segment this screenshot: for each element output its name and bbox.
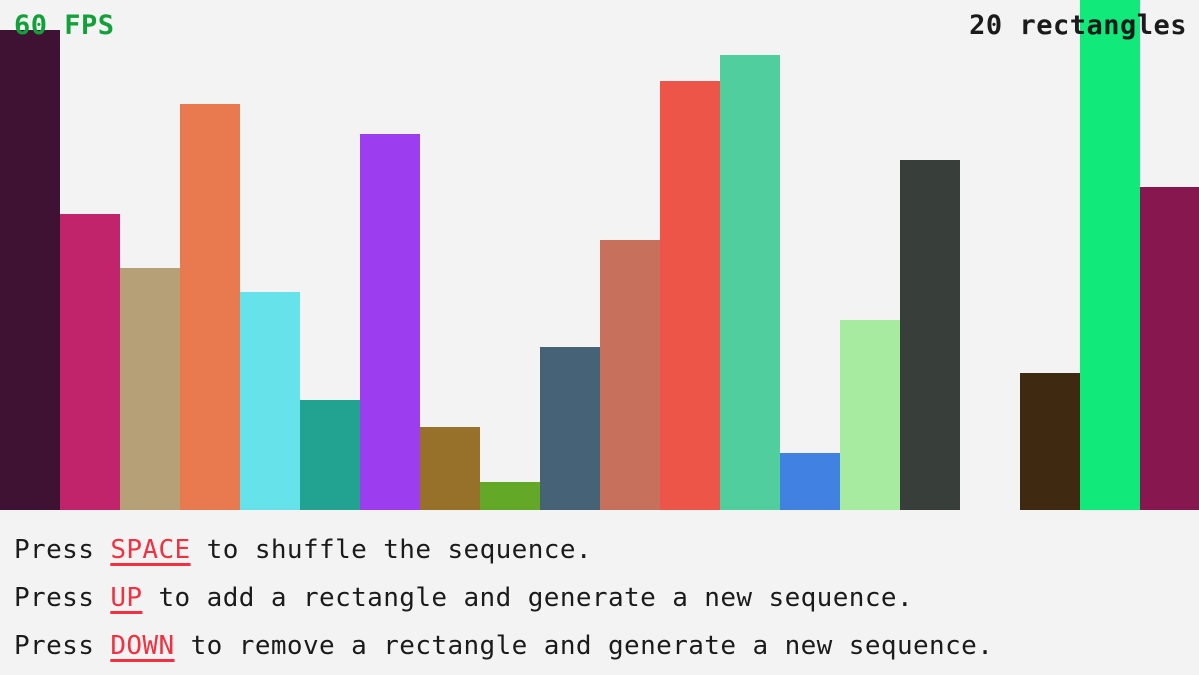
key-space[interactable]: SPACE [110, 535, 190, 565]
instruction-suffix: to add a rectangle and generate a new se… [142, 583, 913, 613]
bar-12-red [660, 81, 720, 510]
bar-10-slate-blue [540, 347, 600, 510]
rectangle-count-label: 20 rectangles [969, 12, 1187, 39]
bar-7-purple [360, 134, 420, 510]
instruction-line-1: Press SPACE to shuffle the sequence. [14, 526, 1199, 574]
bar-1-dark-plum [0, 30, 60, 510]
bar-4-orange [180, 104, 240, 510]
bar-16-charcoal [900, 160, 960, 510]
instructions-panel: Press SPACE to shuffle the sequence.Pres… [0, 510, 1199, 675]
bar-18-dark-brown [1020, 373, 1080, 510]
key-up[interactable]: UP [110, 583, 142, 613]
bar-8-bronze [420, 427, 480, 510]
bar-13-mint [720, 55, 780, 510]
instruction-line-2: Press UP to add a rectangle and generate… [14, 574, 1199, 622]
bar-19-bright-green [1080, 0, 1140, 510]
bar-11-brick [600, 240, 660, 510]
instruction-suffix: to shuffle the sequence. [191, 535, 592, 565]
instruction-suffix: to remove a rectangle and generate a new… [175, 631, 994, 661]
key-down[interactable]: DOWN [110, 631, 174, 661]
bar-3-tan [120, 268, 180, 510]
rectangle-sequence-app: 60 FPS 20 rectangles Press SPACE to shuf… [0, 0, 1199, 675]
fps-counter: 60 FPS [14, 12, 115, 39]
bar-chart [0, 0, 1199, 510]
bar-5-cyan [240, 292, 300, 510]
bar-20-maroon [1140, 187, 1199, 510]
bar-14-blue [780, 453, 840, 510]
bar-6-teal [300, 400, 360, 510]
bar-2-magenta [60, 214, 120, 510]
instruction-prefix: Press [14, 535, 110, 565]
bar-15-light-green [840, 320, 900, 510]
instruction-line-3: Press DOWN to remove a rectangle and gen… [14, 622, 1199, 670]
instruction-prefix: Press [14, 631, 110, 661]
instruction-prefix: Press [14, 583, 110, 613]
bar-9-olive-green [480, 482, 540, 510]
